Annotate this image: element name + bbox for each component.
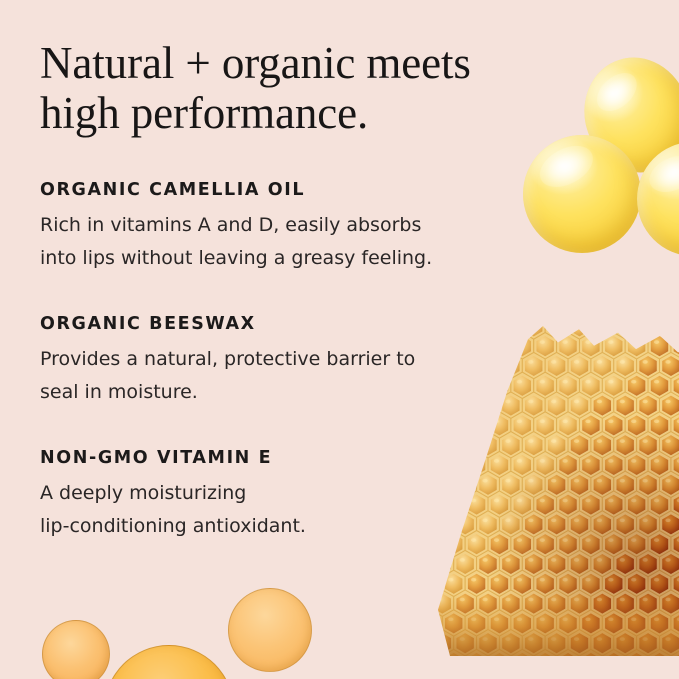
feature-title: ORGANIC CAMELLIA OIL: [40, 180, 510, 200]
page-headline: Natural + organic meets high performance…: [40, 38, 510, 138]
feature-title: NON-GMO VITAMIN E: [40, 448, 510, 468]
feature-block-beeswax: ORGANIC BEESWAX Provides a natural, prot…: [40, 314, 510, 409]
feature-block-vitamin-e: NON-GMO VITAMIN E A deeply moisturizing …: [40, 448, 510, 543]
text-layer: Natural + organic meets high performance…: [0, 0, 679, 679]
feature-body: Rich in vitamins A and D, easily absorbs…: [40, 209, 510, 275]
feature-title: ORGANIC BEESWAX: [40, 314, 510, 334]
feature-block-camellia-oil: ORGANIC CAMELLIA OIL Rich in vitamins A …: [40, 180, 510, 275]
feature-body: A deeply moisturizing lip-conditioning a…: [40, 477, 510, 543]
feature-body: Provides a natural, protective barrier t…: [40, 343, 510, 409]
infographic-canvas: Natural + organic meets high performance…: [0, 0, 679, 679]
